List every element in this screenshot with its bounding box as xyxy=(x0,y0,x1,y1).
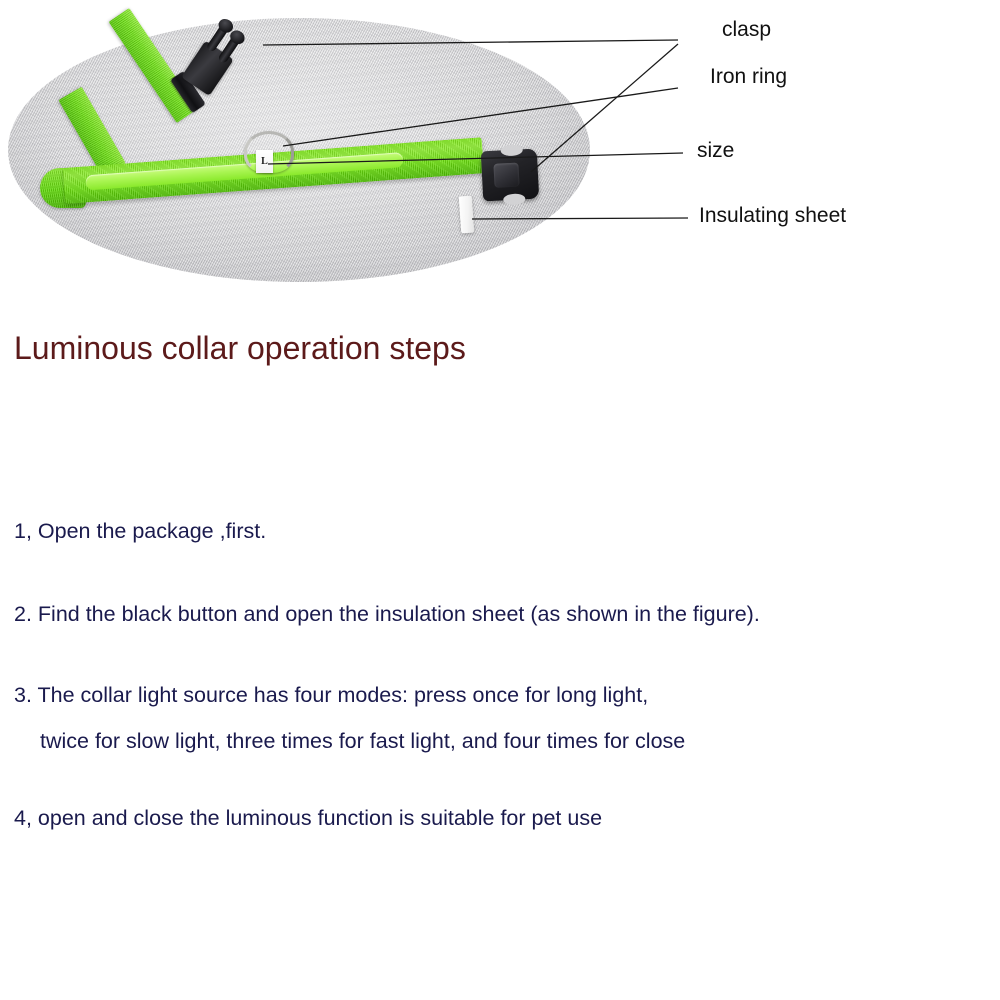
step-item-2: 2. Find the black button and open the in… xyxy=(14,601,974,628)
page-title: Luminous collar operation steps xyxy=(14,330,466,367)
product-photo-panel: L clasp Iron ring size Insulating sheet xyxy=(0,0,1000,300)
step-1-text: 1, Open the package ,first. xyxy=(14,519,266,543)
callout-label-clasp: clasp xyxy=(722,19,771,40)
callout-label-insulating-sheet: Insulating sheet xyxy=(699,205,846,226)
callout-label-iron-ring: Iron ring xyxy=(710,66,787,87)
step-3-continuation: twice for slow light, three times for fa… xyxy=(14,728,974,755)
step-3-text: 3. The collar light source has four mode… xyxy=(14,683,648,707)
step-2-text: 2. Find the black button and open the in… xyxy=(14,602,760,626)
step-item-4: 4, open and close the luminous function … xyxy=(14,805,974,832)
step-item-1: 1, Open the package ,first. xyxy=(14,518,974,545)
callout-leader-lines xyxy=(0,0,1000,300)
callout-label-size: size xyxy=(697,140,734,161)
step-item-3: 3. The collar light source has four mode… xyxy=(14,682,974,755)
step-4-text: 4, open and close the luminous function … xyxy=(14,806,602,830)
operation-steps-list: 1, Open the package ,first. 2. Find the … xyxy=(14,518,974,831)
